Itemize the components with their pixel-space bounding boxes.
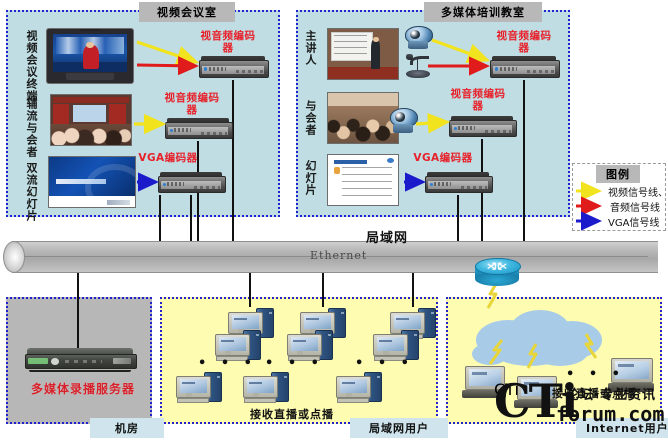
cable-av-encoder-4 [481,139,483,255]
label-dual-stream-slide: 双流幻灯片 [11,162,37,212]
caption-internet-users: 接收直播或点播 [552,385,636,401]
audience-banner-right [109,104,127,125]
photo-video-conference-terminal [46,28,134,84]
legend-title: 图例 [596,165,640,183]
lan-pc [243,371,289,403]
label-vga-encoder-2: VGA编码器 [406,152,480,164]
slide-logo [107,200,129,206]
label-video-conference-terminal: 视频会议终端 [11,30,37,92]
photo-slide [327,154,399,206]
pc-screen [232,315,260,329]
legend-label-video: 视频信号线、 [608,184,668,199]
pc-screen [219,337,247,351]
microphone-base [406,70,430,78]
zone-server-room-title: 机房 [90,418,164,438]
slide-corner-logo [387,158,394,163]
cable-lan-group-1 [249,271,251,307]
zone-internet-users-title: Internet用户 [576,418,668,438]
encoder-ports [485,130,511,133]
encoder-ports [527,70,554,73]
internet-ellipsis: • • • [566,367,625,382]
pc-monitor [373,334,408,356]
audience-banner [53,97,130,103]
legend-label-vga: VGA信号线 [608,214,659,229]
pc-drive-bay [328,334,331,336]
label-attendees: 与会者 [300,100,316,150]
label-av-encoder-4: 视音频编码器 [447,88,509,112]
encoder-ports [194,186,220,189]
encoder-power-led-icon [163,183,166,186]
pc-drive-bay [284,376,287,378]
pc-drive-bay [256,334,259,336]
label-presenter: 主讲人 [300,30,316,80]
pc-monitor-stand [186,393,193,396]
audience-projection-screen [73,105,107,122]
encoder-ports [461,186,487,189]
microphone-capsule-icon [406,54,413,60]
encoder-power-led-icon [170,129,173,132]
server-brand-plate [113,358,131,363]
encoder-brand-text [500,67,518,71]
legend-swatches [575,185,609,229]
pc-screen [304,315,332,329]
lan-pc [336,371,382,403]
encoder-power-led-icon [204,67,207,70]
presenter-whiteboard-text [334,35,368,55]
legend-label-audio: 音频信号线 [610,199,660,214]
pc-monitor [176,376,211,398]
presenter-person [371,40,380,69]
pc-screen [394,315,422,329]
pc-screen [180,379,208,393]
room-multimedia-classroom-title: 多媒体培训教室 [424,2,542,22]
pc-keyboard [337,398,369,403]
router [475,258,519,286]
presenter-person-head [373,37,379,43]
label-slide: 幻灯片 [300,160,316,210]
encoder-power-led-icon [495,67,498,70]
presenter-carpet [328,67,398,79]
server-status-display [28,358,48,364]
pc-drive-bay [431,312,434,314]
server-base [29,370,130,372]
label-av-encoder-1: 视音频编码器 [196,30,260,54]
pc-screen [377,337,405,351]
attendees-ceiling [328,93,398,106]
pc-monitor-stand [346,393,353,396]
pc-monitor [287,334,322,356]
device-av-encoder-1 [199,56,267,80]
pc-monitor-stand [297,351,304,354]
cable-lan-group-3 [412,271,414,307]
pc-monitor [243,376,278,398]
pc-monitor [215,334,250,356]
terminal-screen-person [83,45,99,68]
slide-bullet-icon [334,167,340,174]
label-vga-encoder-1: VGA编码器 [131,152,205,164]
pc-keyboard [244,398,276,403]
encoder-ports [236,70,263,73]
router-arrows-icon [475,260,519,272]
zone-lan-users-title: 局域网用户 [350,418,448,438]
label-av-encoder-2: 视音频编码器 [160,92,224,116]
terminal-base [66,73,114,79]
topology-diagram: 视频会议室 视频会议终端 辅流与会者 双流幻灯片 视音频编码器 视音频编码器 V… [0,0,668,445]
cable-server-uplink [77,271,79,353]
lan-label: 局域网 [366,227,408,246]
photo-auxiliary-audience [50,94,132,146]
lan-ellipsis: • • • [198,356,257,371]
cable-av-encoder-3 [523,80,525,255]
pc-monitor-stand [253,393,260,396]
device-av-encoder-4 [449,116,515,139]
gooseneck-microphone [404,52,432,78]
encoder-power-led-icon [454,127,457,130]
label-av-encoder-3: 视音频编码器 [492,30,556,54]
label-recording-server: 多媒体录播服务器 [31,380,135,397]
encoder-brand-text [458,126,475,130]
ptz-camera-presenter [403,26,433,52]
device-vga-encoder-1 [158,172,224,195]
encoder-brand-text [434,182,451,186]
terminal-camera [80,28,101,31]
terminal-screen-person-head [86,42,93,48]
pc-screen [291,337,319,351]
ethernet-bus-endcap [3,241,25,273]
cable-av-encoder-1 [232,80,234,255]
lan-ellipsis: • • • [265,356,324,371]
pc-monitor-stand [225,351,232,354]
server-control-knob-icon [51,358,59,365]
ptz-camera-attendees [388,108,418,136]
pc-drive-bay [377,376,380,378]
pc-drive-bay [269,312,272,314]
slide-title-text [56,179,106,184]
encoder-brand-text [167,182,184,186]
pc-monitor [336,376,371,398]
ethernet-bus-label: Ethernet [310,249,367,262]
encoder-ports [201,132,227,135]
device-av-encoder-2 [165,118,231,141]
slide-heading [334,160,368,164]
pc-drive-bay [414,334,417,336]
room-video-conference-title: 视频会议室 [139,2,235,22]
device-vga-encoder-2 [425,172,491,195]
caption-lan-users: 接收直播或点播 [250,406,334,422]
encoder-power-led-icon [430,183,433,186]
pc-screen [340,379,368,393]
photo-presenter [327,28,399,80]
device-av-encoder-3 [490,56,558,80]
pc-screen [247,379,275,393]
microphone-arm [410,56,429,66]
label-auxiliary-stream-audience: 辅流与会者 [11,98,37,160]
device-recording-server [25,348,135,374]
lan-ellipsis: • • • [355,356,414,371]
pc-drive-bay [341,312,344,314]
pc-drive-bay [217,376,220,378]
encoder-brand-text [174,128,191,132]
audience-banner-left [53,104,69,125]
pc-keyboard [177,398,209,403]
pc-monitor-stand [383,351,390,354]
slide-body-text [342,167,392,198]
encoder-brand-text [209,67,227,71]
server-drive-bays [65,360,102,363]
ptz-camera-base [393,124,413,132]
lan-pc [176,371,222,403]
audience-seats [51,124,131,145]
cable-lan-group-2 [322,271,324,307]
ptz-camera-base [408,41,428,49]
terminal-screen [53,34,127,72]
photo-dual-stream-slide [48,156,136,208]
